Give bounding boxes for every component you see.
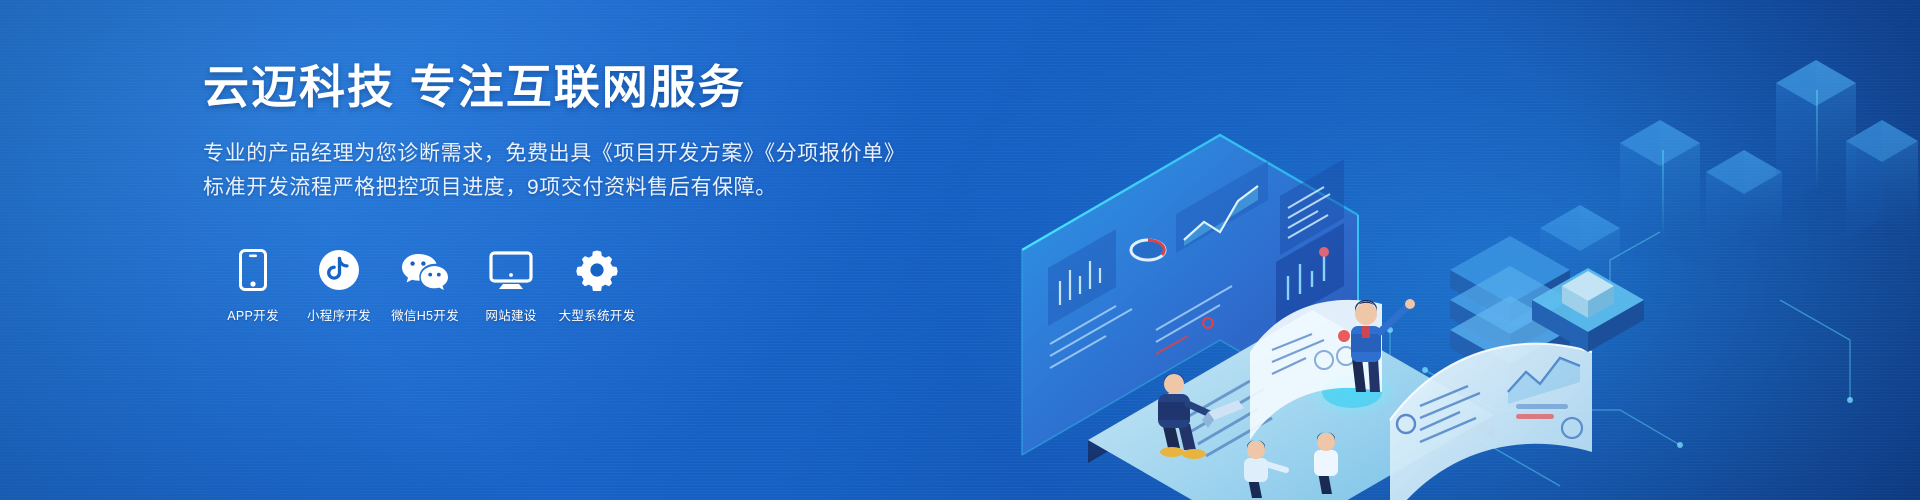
page-title: 云迈科技 专注互联网服务 — [203, 62, 903, 113]
service-label: 大型系统开发 — [559, 305, 636, 324]
gear-icon — [576, 245, 618, 291]
illustration-isometric-data-dashboard-scene — [920, 0, 1920, 500]
banner-content: 云迈科技 专注互联网服务 专业的产品经理为您诊断需求，免费出具《项目开发方案》《… — [203, 62, 903, 324]
subtitle-line-2: 标准开发流程严格把控项目进度，9项交付资料售后有保障。 — [203, 171, 903, 205]
wechat-icon — [401, 245, 449, 291]
service-item-website[interactable]: 网站建设 — [475, 245, 547, 324]
service-label: 网站建设 — [485, 305, 536, 324]
subtitle-line-1: 专业的产品经理为您诊断需求，免费出具《项目开发方案》《分项报价单》 — [203, 137, 903, 171]
banner-subtitle: 专业的产品经理为您诊断需求，免费出具《项目开发方案》《分项报价单》 标准开发流程… — [203, 137, 903, 205]
mobile-phone-icon — [239, 245, 267, 291]
service-item-app[interactable]: APP开发 — [217, 245, 289, 324]
promo-banner: 云迈科技 专注互联网服务 专业的产品经理为您诊断需求，免费出具《项目开发方案》《… — [0, 0, 1920, 500]
service-item-large-system[interactable]: 大型系统开发 — [561, 245, 633, 324]
mini-program-icon — [318, 245, 360, 291]
service-item-mini-program[interactable]: 小程序开发 — [303, 245, 375, 324]
service-label: 小程序开发 — [307, 305, 371, 324]
service-list: APP开发 小程序开发 — [217, 245, 903, 324]
service-label: APP开发 — [227, 305, 279, 324]
service-item-wechat-h5[interactable]: 微信H5开发 — [389, 245, 461, 324]
service-label: 微信H5开发 — [391, 305, 459, 324]
monitor-icon — [489, 245, 533, 291]
